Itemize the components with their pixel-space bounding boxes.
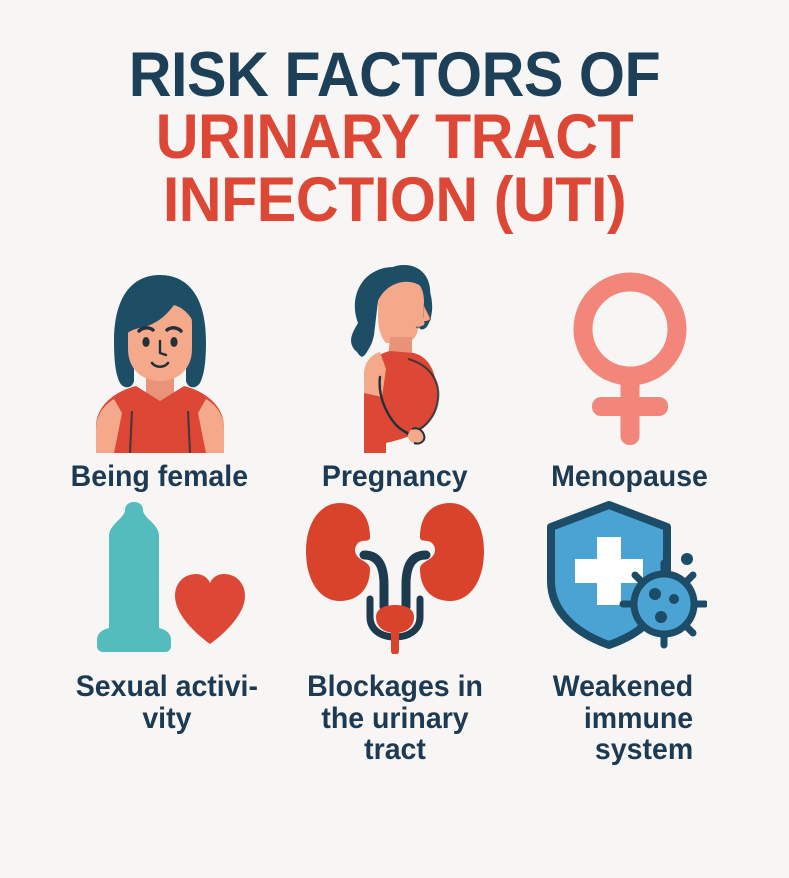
icon-container — [300, 493, 490, 661]
woman-portrait-icon — [70, 263, 250, 453]
pregnant-woman-icon — [320, 257, 470, 453]
risk-factor-label: Pregnancy — [322, 461, 468, 493]
icon-container — [79, 493, 255, 661]
risk-factor-menopause: Menopause — [512, 253, 747, 493]
risk-factor-label: Menopause — [551, 461, 708, 493]
icon-container — [539, 493, 707, 661]
kidneys-bladder-icon — [300, 499, 490, 654]
icon-container — [70, 253, 250, 453]
title-line-1: RISK FACTORS OF — [24, 44, 766, 106]
risk-factor-blockages: Blockages in the urinary tract — [281, 493, 509, 766]
risk-factor-row-1: Being female — [0, 253, 789, 493]
risk-factor-label: Weakened immune system — [552, 671, 692, 766]
title-line-2: URINARY TRACT — [24, 106, 766, 168]
icon-container — [560, 253, 700, 453]
female-venus-symbol-icon — [560, 263, 700, 453]
title-line-3: INFECTION (UTI) — [24, 169, 766, 231]
poster-title: RISK FACTORS OF URINARY TRACT INFECTION … — [0, 0, 789, 231]
risk-factor-grid: Being female — [0, 253, 789, 766]
icon-container — [320, 253, 470, 453]
risk-factor-sexual-activity: Sexual activi- vity — [53, 493, 281, 735]
shield-virus-icon — [539, 499, 707, 654]
risk-factor-row-2: Sexual activi- vity — [0, 493, 789, 766]
risk-factor-label: Blockages in the urinary tract — [286, 671, 503, 766]
risk-factor-pregnancy: Pregnancy — [277, 253, 512, 493]
risk-factor-label: Being female — [71, 461, 248, 493]
risk-factor-being-female: Being female — [42, 253, 277, 493]
risk-factor-weak-immune: Weakened immune system — [509, 493, 737, 766]
risk-factor-label: Sexual activi- vity — [75, 671, 257, 735]
risk-factors-infographic: RISK FACTORS OF URINARY TRACT INFECTION … — [0, 0, 789, 878]
condom-heart-icon — [79, 502, 255, 652]
